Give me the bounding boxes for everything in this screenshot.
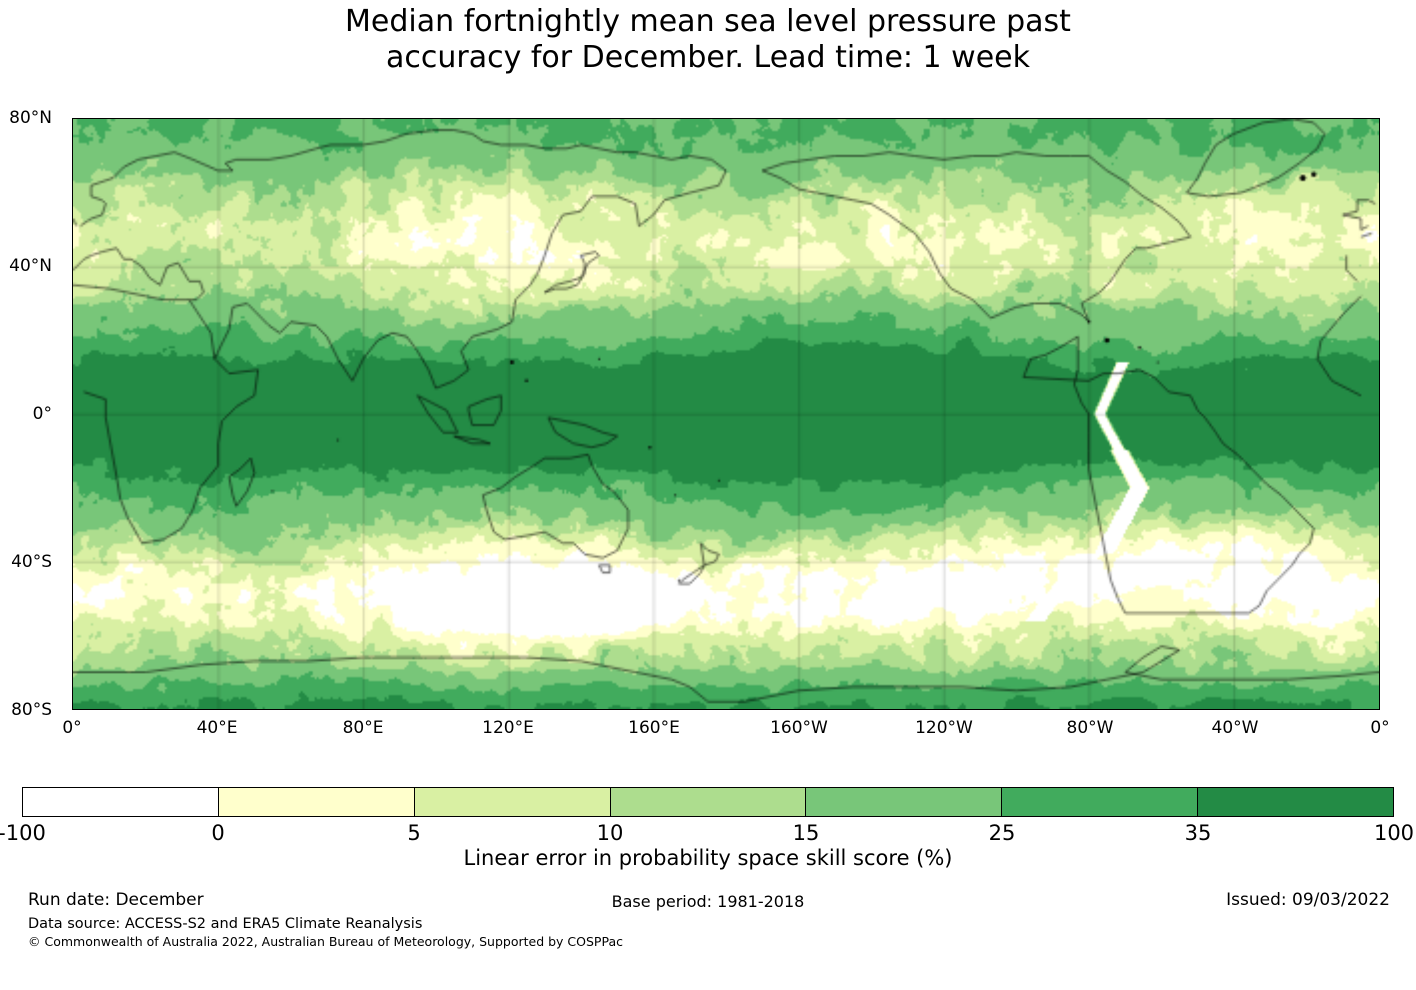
x-tick-360e: 0°: [1310, 718, 1416, 738]
colorbar-axis-label: Linear error in probability space skill …: [0, 846, 1416, 870]
data-source-text: Data source: ACCESS-S2 and ERA5 Climate …: [28, 916, 422, 932]
colorbar-segment-5: [806, 788, 1002, 816]
y-tick-80s: 80°S: [0, 700, 52, 720]
colorbar-tick-35: 35: [1118, 821, 1278, 845]
x-tick-80w: 80°W: [1020, 718, 1160, 738]
x-tick-120e: 120°E: [438, 718, 578, 738]
colorbar-segment-6: [1002, 788, 1198, 816]
colorbar-tick-15: 15: [726, 821, 886, 845]
x-tick-0e: 0°: [2, 718, 142, 738]
colorbar-segment-1: [23, 788, 219, 816]
title-line-1: Median fortnightly mean sea level pressu…: [0, 4, 1416, 40]
x-tick-80e: 80°E: [293, 718, 433, 738]
footer: Run date: December Base period: 1981-201…: [0, 890, 1416, 960]
y-tick-0: 0°: [0, 404, 52, 424]
colorbar-segment-4: [611, 788, 807, 816]
skill-score-heatmap: [73, 119, 1379, 709]
y-tick-40s: 40°S: [0, 552, 52, 572]
colorbar-segment-3: [415, 788, 611, 816]
y-tick-40n: 40°N: [0, 256, 52, 276]
x-tick-40w: 40°W: [1165, 718, 1305, 738]
colorbar-tick-10: 10: [530, 821, 690, 845]
title-line-2: accuracy for December. Lead time: 1 week: [0, 40, 1416, 76]
x-tick-120w: 120°W: [874, 718, 1014, 738]
x-tick-40e: 40°E: [147, 718, 287, 738]
colorbar: [22, 787, 1394, 817]
colorbar-tick-5: 5: [334, 821, 494, 845]
colorbar-tick-25: 25: [922, 821, 1082, 845]
x-tick-160e: 160°E: [584, 718, 724, 738]
copyright-text: © Commonwealth of Australia 2022, Austra…: [28, 934, 623, 949]
colorbar-tick-100: 100: [1314, 821, 1416, 845]
colorbar-tick-minus100: -100: [0, 821, 102, 845]
page-title: Median fortnightly mean sea level pressu…: [0, 4, 1416, 76]
colorbar-segment-7: [1198, 788, 1393, 816]
colorbar-segment-2: [219, 788, 415, 816]
colorbar-tick-0: 0: [138, 821, 298, 845]
map-plot-area: [72, 118, 1380, 710]
y-tick-80n: 80°N: [0, 108, 52, 128]
issued-date-text: Issued: 09/03/2022: [1226, 890, 1390, 910]
x-tick-160w: 160°W: [729, 718, 869, 738]
base-period-text: Base period: 1981-2018: [0, 892, 1416, 911]
